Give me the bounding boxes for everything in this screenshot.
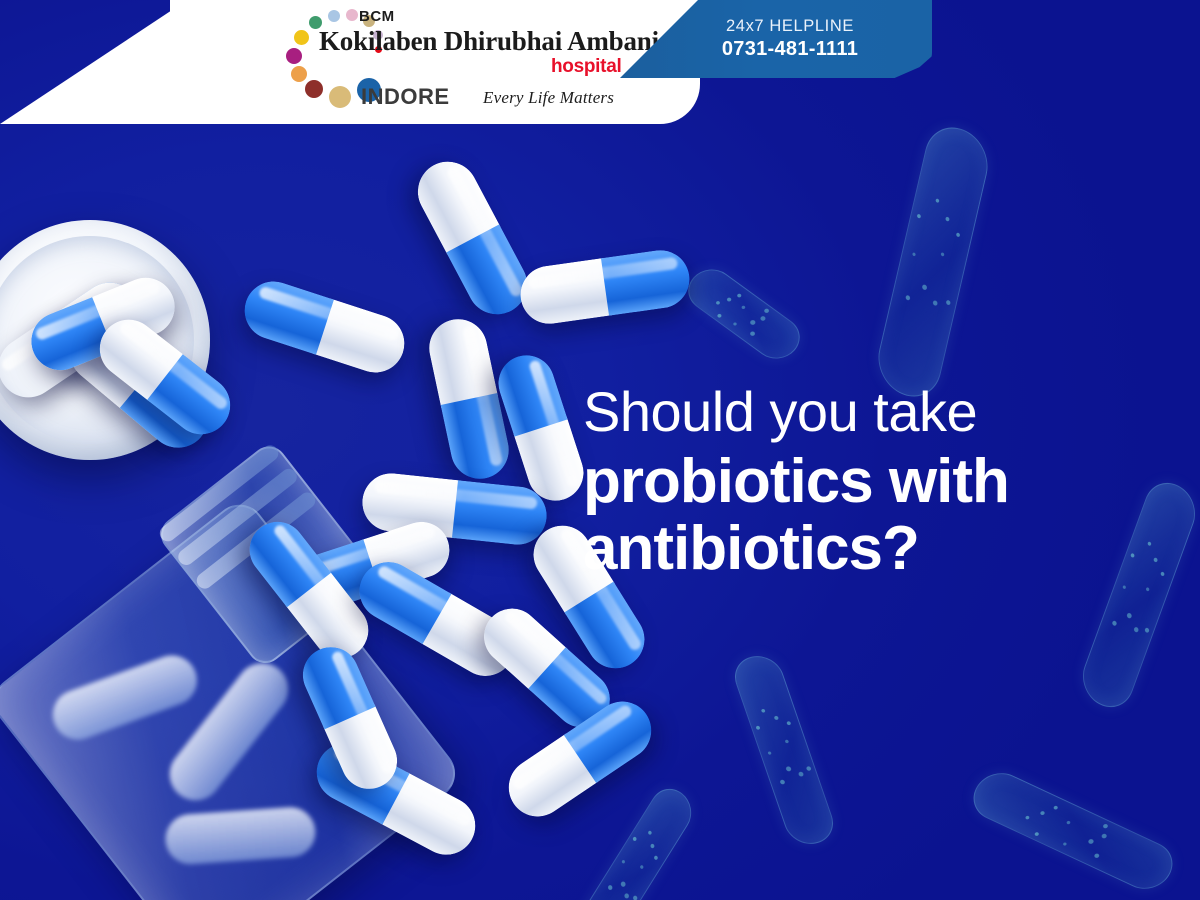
logo-hospital-word: hospital [551, 56, 621, 78]
logo-tagline: Every Life Matters [483, 88, 614, 108]
germ-top-right-icon [872, 117, 994, 406]
headline-line-3: antibiotics? [583, 516, 1143, 583]
logo-city-label: INDORE [361, 84, 450, 110]
logo-dot-6 [294, 30, 309, 45]
headline-line-1: Should you take [583, 382, 1143, 441]
capsule-3 [407, 151, 537, 325]
logo-brand-name: Kokilaben Dhirubhai Ambani [319, 26, 659, 57]
hospital-logo[interactable]: BCM Kokilaben Dhirubhai Ambani hospital … [283, 4, 673, 120]
pill-artwork [0, 170, 680, 900]
capsule-4 [517, 246, 693, 327]
capsule-6 [491, 348, 591, 508]
helpline-phone-number[interactable]: 0731-481-1111 [722, 38, 858, 61]
helpline-title: 24x7 HELPLINE [726, 17, 854, 36]
capsule-blue-half [441, 393, 515, 484]
logo-dot-8 [291, 66, 307, 82]
germ-upper-mid-icon [679, 261, 809, 367]
logo-dot-2 [346, 9, 358, 21]
poster-canvas: BCM Kokilaben Dhirubhai Ambani hospital … [0, 0, 1200, 900]
germ-bottom-right-icon [964, 765, 1182, 897]
headline-line-2: probiotics with [583, 449, 1143, 516]
logo-dot-7 [286, 48, 302, 64]
capsule-2 [237, 274, 412, 380]
bottle-inner-pill [164, 806, 317, 866]
bottle-inner-pill [46, 648, 204, 746]
logo-dot-10 [329, 86, 351, 108]
logo-bcm-label: BCM [359, 8, 395, 25]
headline-block: Should you take probiotics with antibiot… [583, 382, 1143, 583]
germ-bottom-center-icon [728, 652, 839, 849]
logo-dot-9 [305, 80, 323, 98]
logo-dot-1 [328, 10, 340, 22]
capsule-blue-half [601, 246, 693, 315]
capsule-5 [424, 314, 514, 485]
